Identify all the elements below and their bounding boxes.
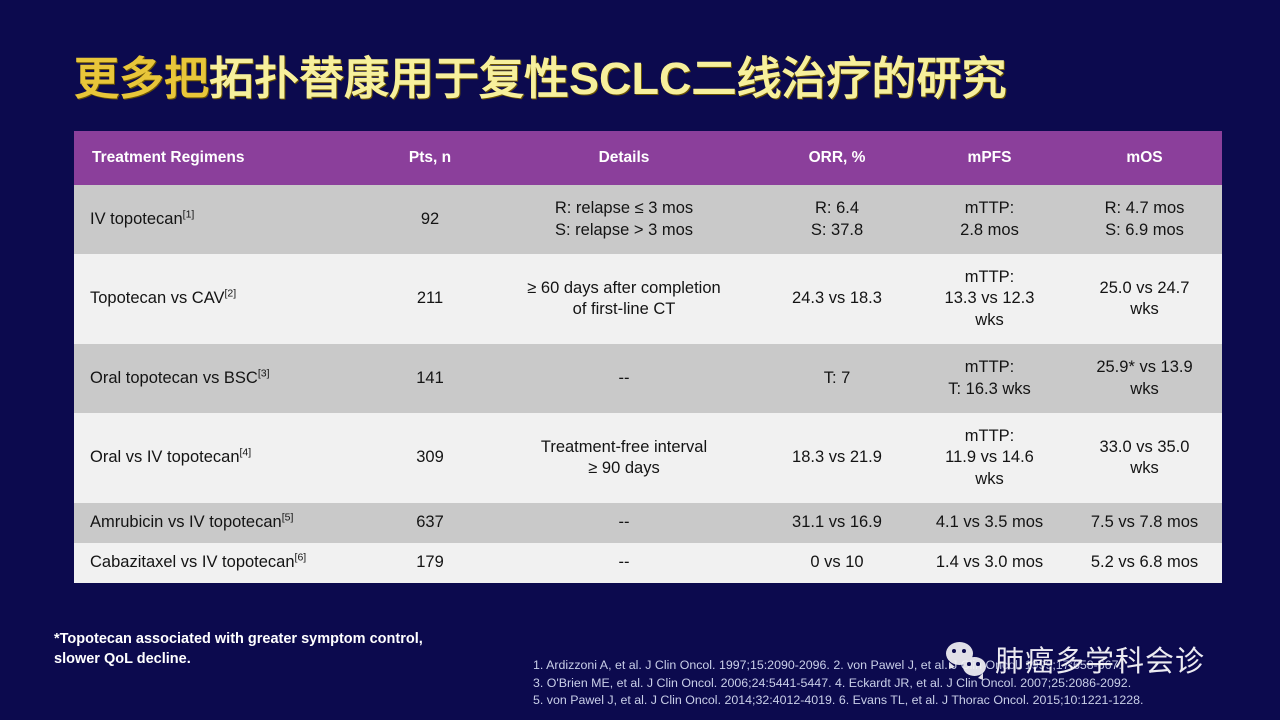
page-title: 更多把拓扑替康用于复性SCLC二线治疗的研究: [74, 47, 1214, 109]
regimen-label: Oral topotecan vs BSC: [90, 369, 258, 387]
cell-mpfs: mTTP:T: 16.3 wks: [912, 344, 1067, 413]
cell-details: --: [486, 344, 762, 413]
cell-regimen: Amrubicin vs IV topotecan[5]: [74, 503, 374, 543]
footnote: *Topotecan associated with greater sympt…: [54, 630, 574, 669]
cell-mos: 25.0 vs 24.7wks: [1067, 254, 1222, 344]
column-header-pts: Pts, n: [374, 131, 486, 185]
regimen-reference-marker: [6]: [295, 552, 307, 564]
regimen-reference-marker: [1]: [183, 208, 195, 220]
cell-pts: 141: [374, 344, 486, 413]
cell-pts: 211: [374, 254, 486, 344]
cell-mpfs: mTTP:13.3 vs 12.3wks: [912, 254, 1067, 344]
footnote-line-1: *Topotecan associated with greater sympt…: [54, 630, 574, 650]
regimen-label: Topotecan vs CAV: [90, 289, 225, 307]
references-block: 1. Ardizzoni A, et al. J Clin Oncol. 199…: [533, 657, 1253, 710]
column-header-mos: mOS: [1067, 131, 1222, 185]
cell-details: --: [486, 503, 762, 543]
cell-regimen: Topotecan vs CAV[2]: [74, 254, 374, 344]
page-title-rest: 拓扑替康用于复性SCLC二线治疗的研究: [209, 56, 1007, 101]
regimen-label: Cabazitaxel vs IV topotecan: [90, 553, 295, 571]
column-header-details: Details: [486, 131, 762, 185]
cell-mos: 5.2 vs 6.8 mos: [1067, 543, 1222, 583]
cell-orr: T: 7: [762, 344, 912, 413]
cell-pts: 92: [374, 185, 486, 254]
page-title-highlight: 更多把: [74, 56, 209, 101]
reference-line-3: 5. von Pawel J, et al. J Clin Oncol. 201…: [533, 692, 1253, 710]
cell-pts: 637: [374, 503, 486, 543]
footnote-line-2: slower QoL decline.: [54, 650, 574, 670]
cell-regimen: Oral vs IV topotecan[4]: [74, 413, 374, 503]
cell-orr: R: 6.4S: 37.8: [762, 185, 912, 254]
cell-details: R: relapse ≤ 3 mosS: relapse > 3 mos: [486, 185, 762, 254]
table-row: Cabazitaxel vs IV topotecan[6] 179 -- 0 …: [74, 543, 1222, 583]
regimen-reference-marker: [2]: [225, 288, 237, 300]
cell-mos: 33.0 vs 35.0wks: [1067, 413, 1222, 503]
regimen-reference-marker: [5]: [282, 512, 294, 524]
table-row: Topotecan vs CAV[2] 211 ≥ 60 days after …: [74, 254, 1222, 344]
regimen-label: IV topotecan: [90, 210, 183, 228]
table-row: Amrubicin vs IV topotecan[5] 637 -- 31.1…: [74, 503, 1222, 543]
cell-mpfs: mTTP:11.9 vs 14.6wks: [912, 413, 1067, 503]
table-header-row: Treatment Regimens Pts, n Details ORR, %…: [74, 131, 1222, 185]
regimen-reference-marker: [4]: [240, 447, 252, 459]
cell-mos: R: 4.7 mosS: 6.9 mos: [1067, 185, 1222, 254]
regimen-reference-marker: [3]: [258, 367, 270, 379]
cell-orr: 31.1 vs 16.9: [762, 503, 912, 543]
column-header-treatment-regimens: Treatment Regimens: [74, 131, 374, 185]
reference-line-1: 1. Ardizzoni A, et al. J Clin Oncol. 199…: [533, 657, 1253, 675]
regimen-label: Oral vs IV topotecan: [90, 448, 240, 466]
cell-orr: 18.3 vs 21.9: [762, 413, 912, 503]
cell-mpfs: mTTP:2.8 mos: [912, 185, 1067, 254]
table-row: IV topotecan[1] 92 R: relapse ≤ 3 mosS: …: [74, 185, 1222, 254]
cell-details: --: [486, 543, 762, 583]
cell-pts: 179: [374, 543, 486, 583]
table-row: Oral vs IV topotecan[4] 309 Treatment-fr…: [74, 413, 1222, 503]
cell-regimen: IV topotecan[1]: [74, 185, 374, 254]
column-header-mpfs: mPFS: [912, 131, 1067, 185]
column-header-orr: ORR, %: [762, 131, 912, 185]
cell-details: ≥ 60 days after completionof first-line …: [486, 254, 762, 344]
cell-orr: 24.3 vs 18.3: [762, 254, 912, 344]
table-row: Oral topotecan vs BSC[3] 141 -- T: 7 mTT…: [74, 344, 1222, 413]
cell-mos: 7.5 vs 7.8 mos: [1067, 503, 1222, 543]
cell-details: Treatment-free interval≥ 90 days: [486, 413, 762, 503]
cell-orr: 0 vs 10: [762, 543, 912, 583]
cell-mpfs: 4.1 vs 3.5 mos: [912, 503, 1067, 543]
regimen-label: Amrubicin vs IV topotecan: [90, 513, 282, 531]
cell-pts: 309: [374, 413, 486, 503]
clinical-trials-table: Treatment Regimens Pts, n Details ORR, %…: [74, 131, 1222, 583]
reference-line-2: 3. O'Brien ME, et al. J Clin Oncol. 2006…: [533, 675, 1253, 693]
cell-mos: 25.9* vs 13.9wks: [1067, 344, 1222, 413]
cell-regimen: Oral topotecan vs BSC[3]: [74, 344, 374, 413]
cell-regimen: Cabazitaxel vs IV topotecan[6]: [74, 543, 374, 583]
cell-mpfs: 1.4 vs 3.0 mos: [912, 543, 1067, 583]
